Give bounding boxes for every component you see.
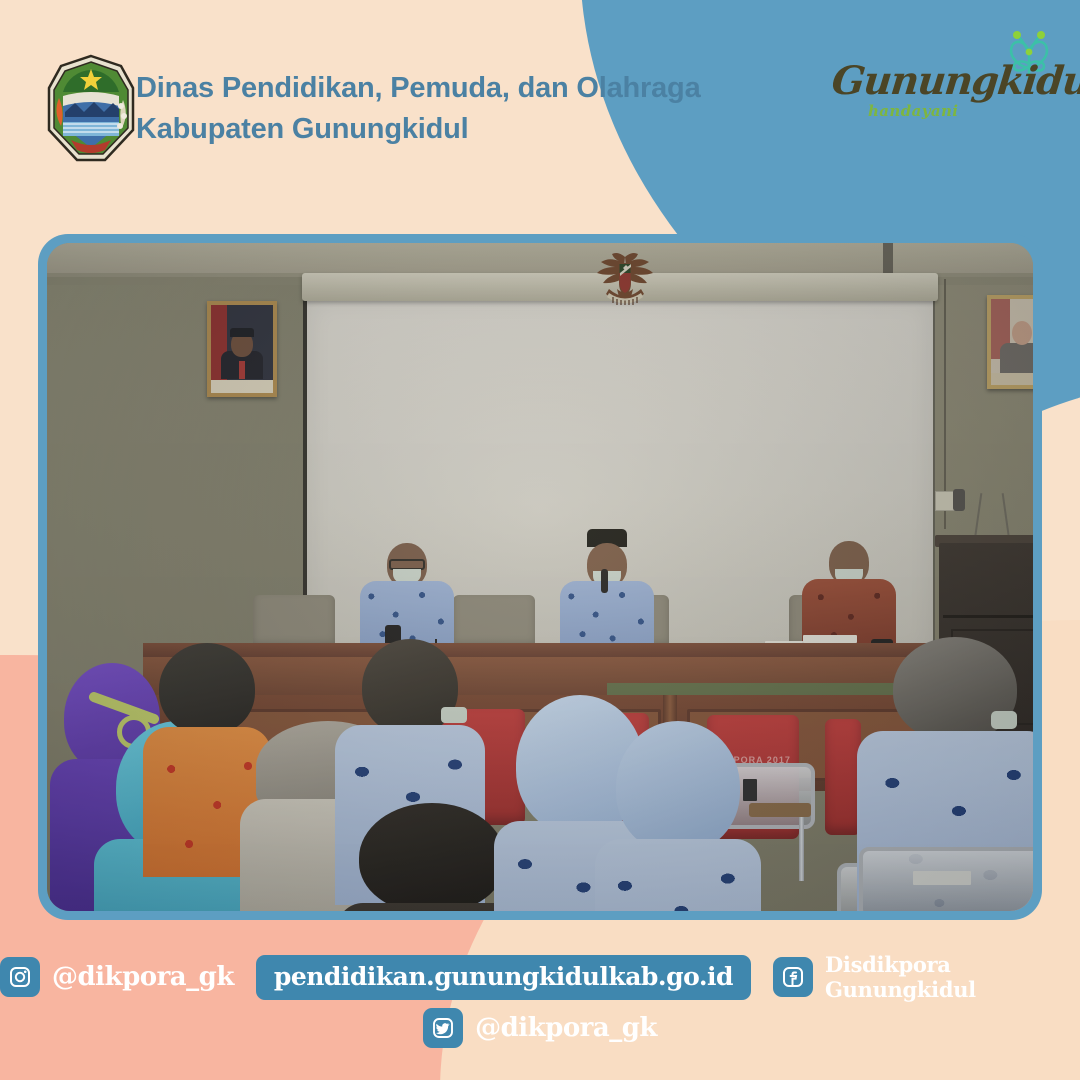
chair-writing-pad bbox=[749, 803, 811, 817]
footer-row-primary: @dikpora_gk pendidikan.gunungkidulkab.go… bbox=[0, 952, 1080, 1002]
website-badge[interactable]: pendidikan.gunungkidulkab.go.id bbox=[256, 955, 751, 1000]
portrait-peci bbox=[230, 328, 254, 337]
gunungkidul-coat-of-arms-icon bbox=[45, 54, 137, 164]
instagram-handle[interactable]: @dikpora_gk bbox=[52, 962, 234, 992]
hijab bbox=[616, 721, 740, 853]
brand-tagline: handayani bbox=[868, 102, 958, 120]
portrait-face bbox=[1012, 321, 1032, 345]
document-papers bbox=[803, 635, 857, 643]
poster-canvas: Dinas Pendidikan, Pemuda, dan Olahraga K… bbox=[0, 0, 1080, 1080]
president-portrait bbox=[207, 301, 277, 397]
twitter-handle[interactable]: @dikpora_gk bbox=[475, 1013, 657, 1043]
wall-socket bbox=[935, 491, 955, 511]
attendee-korpri-center bbox=[603, 721, 753, 911]
face-mask bbox=[441, 707, 467, 723]
official-left bbox=[347, 543, 467, 653]
face-mask bbox=[991, 711, 1017, 729]
microphone bbox=[601, 569, 608, 593]
photo-frame: DIKPORA 2017 bbox=[38, 234, 1042, 920]
vice-president-portrait bbox=[987, 295, 1033, 389]
org-title-line2: Kabupaten Gunungkidul bbox=[136, 109, 776, 150]
chair-label bbox=[913, 871, 971, 885]
head-chair bbox=[253, 595, 335, 647]
org-title-line1: Dinas Pendidikan, Pemuda, dan Olahraga bbox=[136, 72, 701, 104]
portrait-tie bbox=[239, 361, 245, 379]
instagram-icon[interactable] bbox=[0, 957, 40, 997]
footer-row-secondary: @dikpora_gk bbox=[0, 1008, 1080, 1048]
garuda-pancasila-emblem-icon bbox=[583, 249, 667, 305]
attendee-attire bbox=[595, 839, 761, 911]
wall-plug bbox=[953, 489, 965, 511]
portrait-nameplate bbox=[991, 373, 1033, 385]
chrome-chair-back bbox=[859, 847, 1033, 911]
brand-wordmark: Gunungkidul bbox=[830, 58, 1045, 104]
official-center bbox=[547, 539, 667, 653]
portrait-suit bbox=[1000, 343, 1033, 373]
facebook-page-name[interactable]: Disdikpora Gunungkidul bbox=[825, 952, 1080, 1002]
meeting-room-photo: DIKPORA 2017 bbox=[47, 243, 1033, 911]
chair-leg bbox=[799, 815, 804, 881]
gunungkidul-brand-logo: Gunungkidul handayani bbox=[832, 36, 1058, 136]
poster-header: Dinas Pendidikan, Pemuda, dan Olahraga K… bbox=[0, 0, 1080, 220]
attendee-dark-hair bbox=[347, 803, 517, 911]
facebook-icon[interactable] bbox=[773, 957, 813, 997]
attendee-head bbox=[359, 803, 505, 911]
poster-footer: @dikpora_gk pendidikan.gunungkidulkab.go… bbox=[0, 940, 1080, 1080]
page-title: Dinas Pendidikan, Pemuda, dan Olahraga K… bbox=[136, 68, 776, 150]
portrait-nameplate bbox=[211, 380, 273, 393]
twitter-icon[interactable] bbox=[423, 1008, 463, 1048]
red-chair bbox=[825, 719, 861, 835]
cabinet-divider bbox=[943, 615, 1033, 618]
attendee-head bbox=[159, 643, 255, 735]
